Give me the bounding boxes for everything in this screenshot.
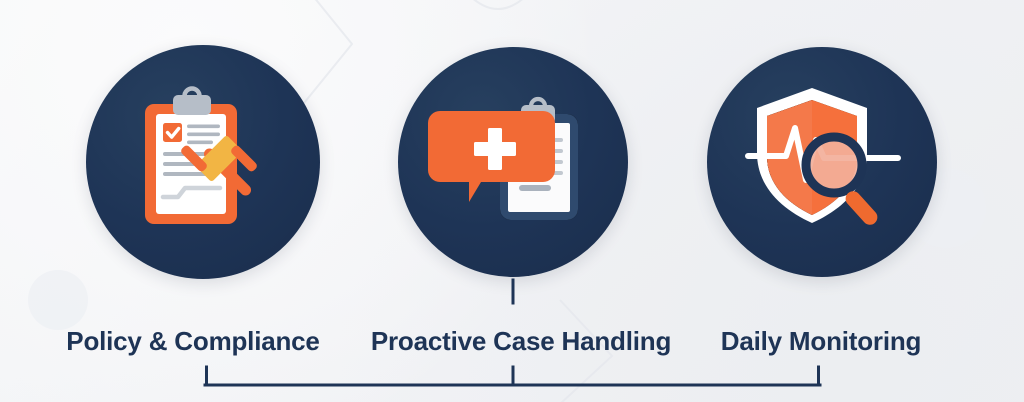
- shield-pulse-magnifier-icon: [750, 82, 900, 234]
- node-label-proactive-case-handling: Proactive Case Handling: [361, 328, 681, 354]
- node-label-policy-compliance: Policy & Compliance: [53, 328, 333, 354]
- speech-bubble-clipboard-icon: [434, 97, 594, 237]
- clipboard-gavel-icon: [127, 85, 279, 235]
- diagram-canvas: Policy & Compliance: [0, 0, 1024, 402]
- node-label-daily-monitoring: Daily Monitoring: [701, 328, 941, 354]
